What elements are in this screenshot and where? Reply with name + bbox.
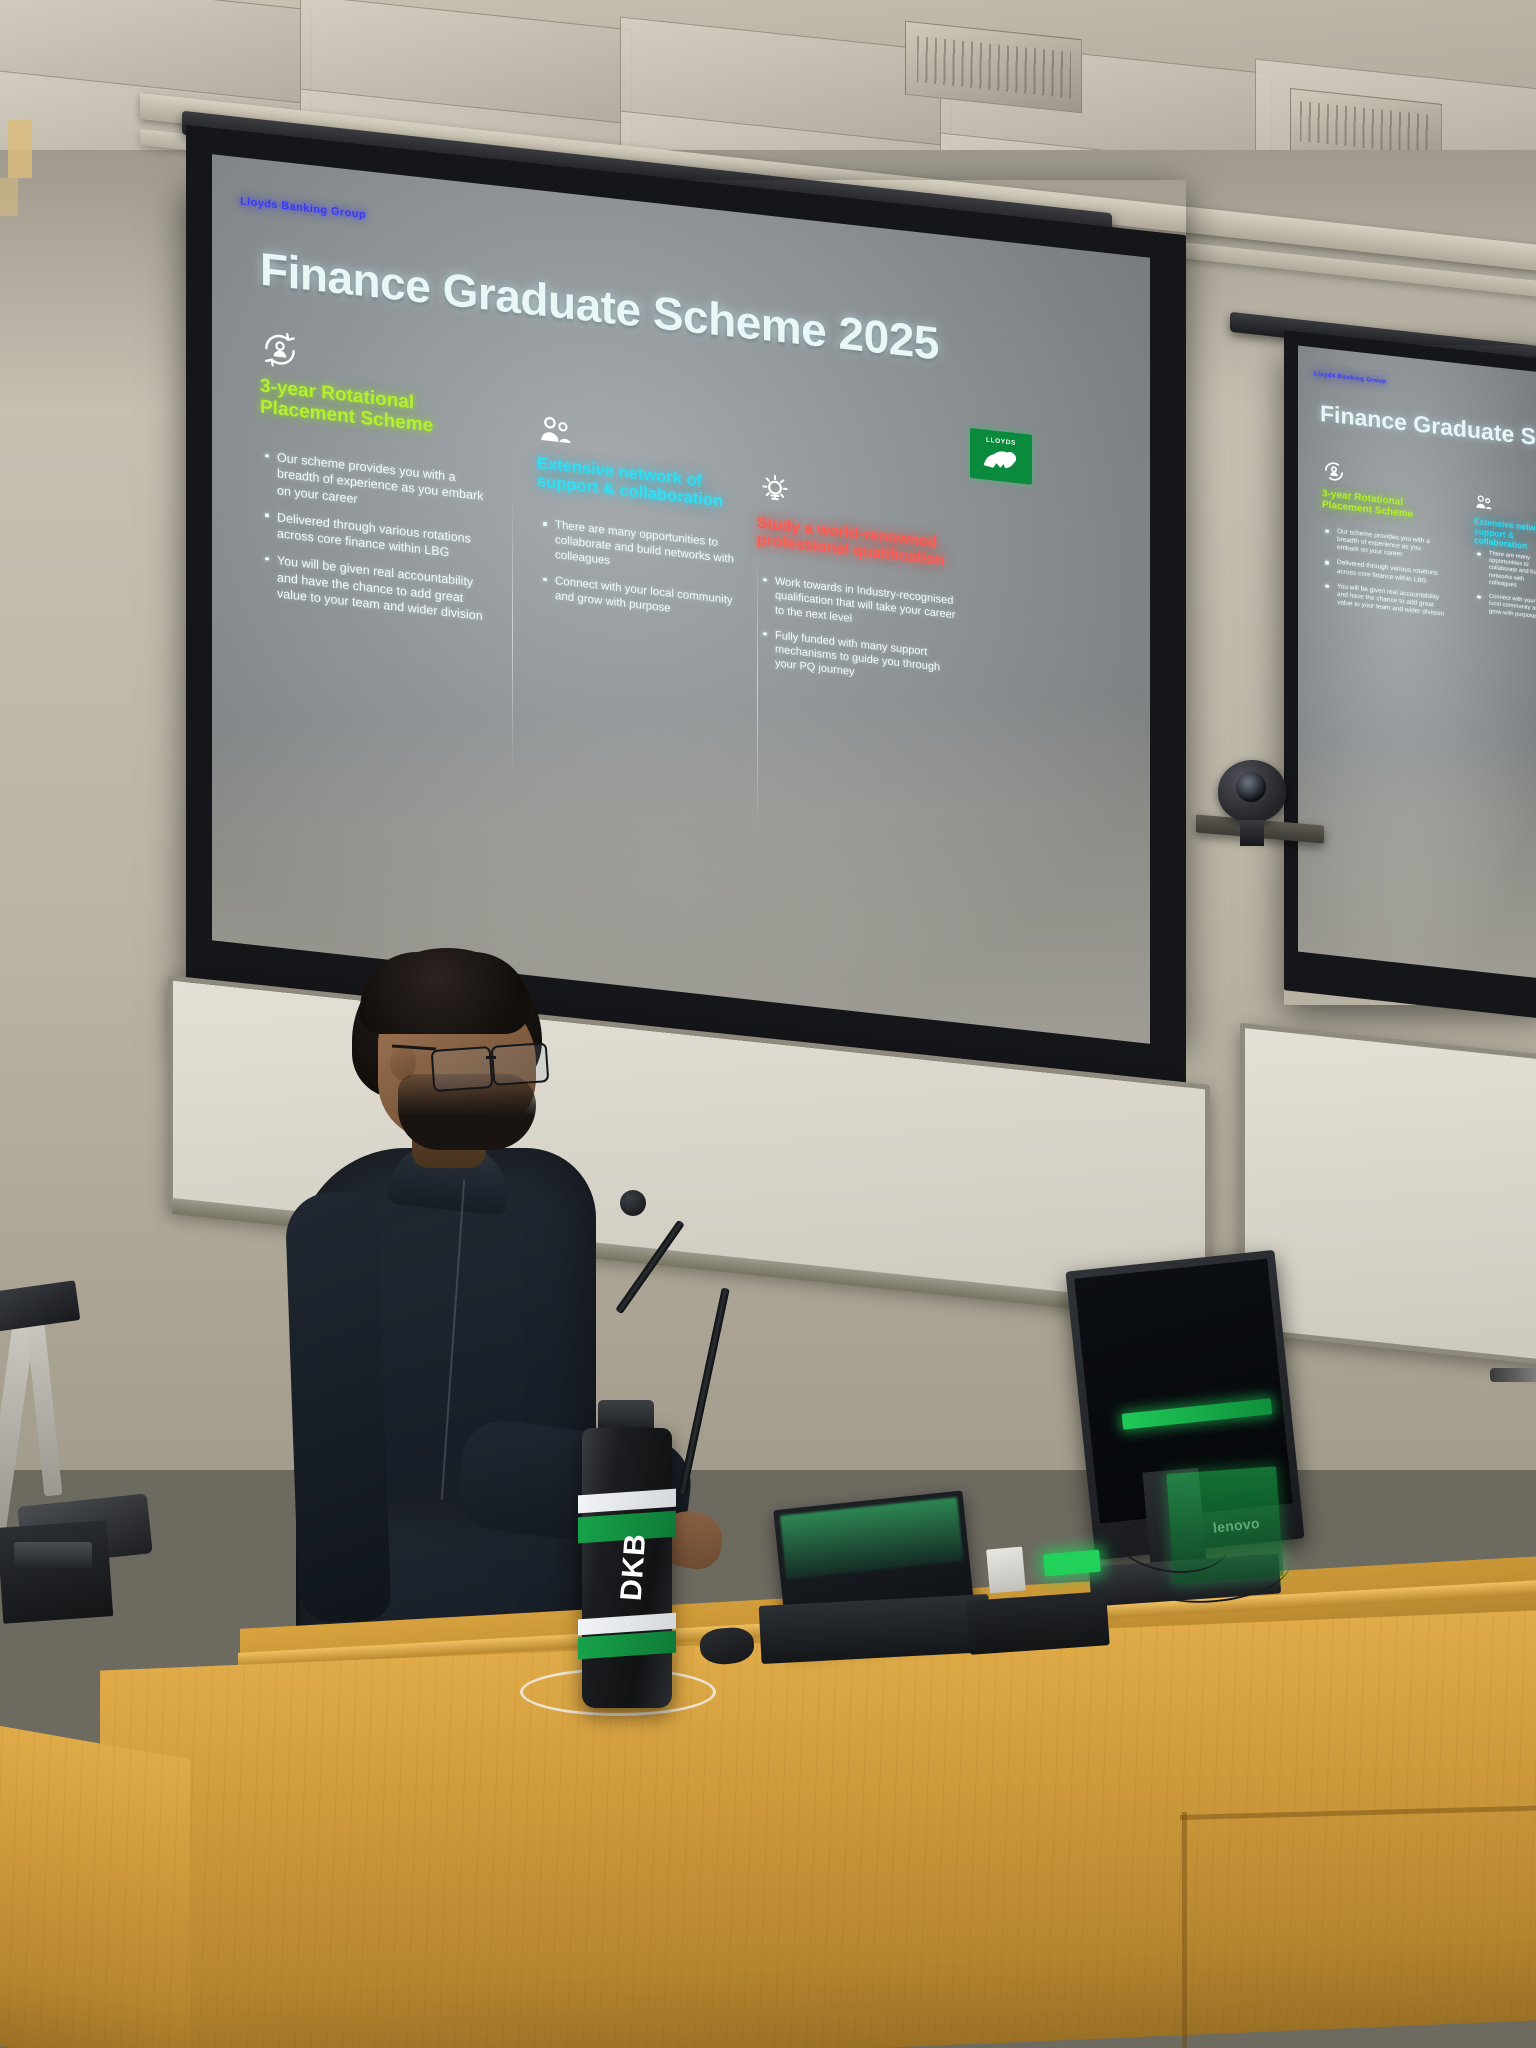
wood-grain (0, 1721, 190, 2048)
lloyds-bank-logo: LLOYDS (970, 428, 1032, 485)
wall-tape-mark (0, 178, 18, 216)
people-group-icon (537, 412, 575, 450)
slide-surface-secondary: Lloyds Banking Group Finance Graduate Sc… (1298, 346, 1536, 979)
secondary-column-1-bullets: Our scheme provides you with a breadth o… (1324, 526, 1444, 625)
list-item: Work towards in Industry-recognised qual… (762, 573, 957, 637)
control-panel-device[interactable] (0, 1520, 113, 1623)
wood-grain (100, 1609, 1536, 2048)
lightbulb-icon (757, 470, 793, 510)
whiteboard-right (1240, 1023, 1536, 1368)
bottle-green-band-2 (578, 1631, 676, 1660)
rotation-person-icon (260, 328, 300, 372)
column-2-bullets: There are many opportunities to collabor… (542, 517, 747, 636)
black-horse-icon (977, 443, 1025, 475)
column-divider (512, 487, 513, 777)
list-item: Fully funded with many support mechanism… (762, 627, 957, 691)
column-3-heading: Study a world-renowned professional qual… (757, 514, 967, 572)
wall-hook (1490, 1368, 1536, 1382)
column-3-bullets: Work towards in Industry-recognised qual… (762, 573, 957, 702)
list-item: There are many opportunities to collabor… (542, 517, 747, 584)
microphone-head (620, 1190, 646, 1216)
lecture-hall-photo: Lloyds Banking Group Finance Graduate Sc… (0, 0, 1536, 2048)
lectern-panel-seam (1182, 1812, 1187, 2048)
keyboard[interactable] (966, 1591, 1109, 1655)
presenter-arm-back (285, 1191, 392, 1624)
bottle-brand-text: DKB (615, 1532, 654, 1602)
column-divider (757, 544, 758, 834)
list-item: You will be given real accountability an… (264, 551, 494, 625)
wall-tape-mark (8, 120, 32, 178)
camera-lens-icon (1236, 772, 1266, 802)
camera-mount (1240, 820, 1264, 846)
glasses-right-lens-icon (491, 1042, 550, 1086)
column-2-heading: Extensive network of support & collabora… (537, 454, 752, 515)
glasses-left-lens-icon (431, 1046, 494, 1092)
bottle-white-band (578, 1489, 676, 1514)
slide-content: Lloyds Banking Group Finance Graduate Sc… (212, 154, 1150, 1044)
lectern-left-panel (0, 1721, 190, 2048)
glasses-bridge-icon (486, 1056, 496, 1059)
slide-brandline: Lloyds Banking Group (240, 195, 366, 221)
column-1-bullets: Our scheme provides you with a breadth o… (264, 448, 494, 636)
presenter-hair-front (360, 952, 530, 1034)
device-box (986, 1547, 1026, 1594)
slide-title: Finance Graduate Scheme 2025 (260, 242, 939, 371)
list-item: You will be given real accountability an… (1324, 581, 1444, 619)
laptop-screen-glow (780, 1497, 964, 1579)
secondary-projection-screen: Lloyds Banking Group Finance Graduate Sc… (1284, 345, 1536, 1005)
main-projection-screen: Lloyds Banking Group Finance Graduate Sc… (186, 180, 1186, 1040)
list-item: There are many opportunities to collabor… (1476, 549, 1536, 593)
laptop-keyboard-base[interactable] (759, 1594, 992, 1664)
control-panel-screen (14, 1542, 92, 1568)
list-item: Connect with your local community and gr… (1476, 592, 1536, 622)
secondary-column-2-bullets: There are many opportunities to collabor… (1476, 549, 1536, 629)
column-1-heading: 3-year Rotational Placement Scheme (260, 376, 480, 443)
slide-surface: Lloyds Banking Group Finance Graduate Sc… (212, 154, 1150, 1044)
lectern-front-panel (100, 1609, 1536, 2048)
water-bottle[interactable]: DKB (582, 1428, 672, 1708)
people-group-icon-secondary (1474, 493, 1494, 513)
rotation-person-icon-secondary (1322, 458, 1346, 485)
